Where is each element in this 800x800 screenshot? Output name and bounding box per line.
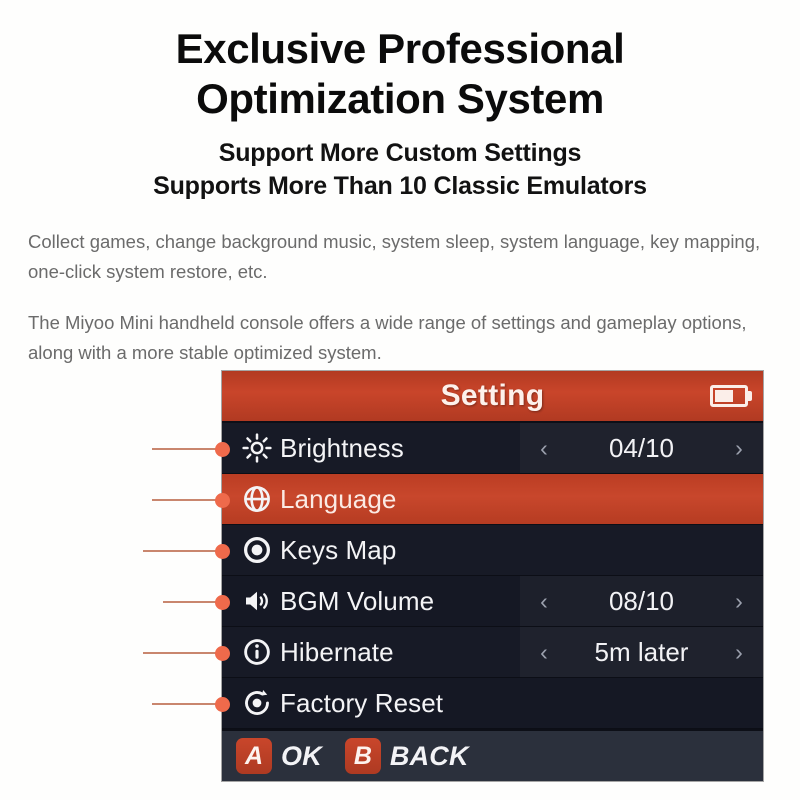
callout-line-6 — [152, 703, 222, 705]
settings-menu-list: Brightness‹04/10›LanguageKeys MapBGM Vol… — [222, 423, 763, 729]
settings-row-label: Language — [280, 484, 396, 515]
settings-row-value: 08/10 — [554, 586, 729, 617]
settings-row-label: Factory Reset — [280, 688, 443, 719]
screen-header-bar: Setting — [222, 371, 763, 423]
callout-line-5 — [143, 652, 222, 654]
subheadline-line-2: Supports More Than 10 Classic Emulators — [0, 170, 800, 203]
settings-row-language[interactable]: Language — [222, 474, 763, 525]
settings-row-label: Keys Map — [280, 535, 396, 566]
footer-key-b-badge[interactable]: B — [345, 738, 381, 774]
chevron-left-icon[interactable]: ‹ — [534, 590, 554, 613]
description-paragraph-2: The Miyoo Mini handheld console offers a… — [28, 308, 772, 368]
page-headline: Exclusive Professional Optimization Syst… — [0, 24, 800, 124]
subheadline-line-1: Support More Custom Settings — [0, 137, 800, 170]
settings-row-keys-map[interactable]: Keys Map — [222, 525, 763, 576]
headline-line-2: Optimization System — [0, 74, 800, 124]
settings-row-hibernate[interactable]: Hibernate‹5m later› — [222, 627, 763, 678]
settings-row-label: BGM Volume — [280, 586, 434, 617]
chevron-right-icon[interactable]: › — [729, 590, 749, 613]
info-circle-icon — [234, 637, 280, 667]
settings-row-factory-reset[interactable]: Factory Reset — [222, 678, 763, 729]
footer-action-back-label: BACK — [390, 741, 469, 772]
page-subheadline: Support More Custom Settings Supports Mo… — [0, 137, 800, 203]
battery-fill — [715, 390, 733, 402]
callout-line-1 — [152, 448, 222, 450]
screen-footer-bar: AOKBBACK — [222, 729, 763, 781]
footer-action-ok-label: OK — [281, 741, 322, 772]
device-settings-screen: Setting Brightness‹04/10›LanguageKeys Ma… — [222, 371, 763, 781]
globe-language-icon — [234, 484, 280, 514]
settings-row-brightness[interactable]: Brightness‹04/10› — [222, 423, 763, 474]
battery-icon — [710, 385, 748, 407]
speaker-volume-icon — [234, 586, 280, 616]
settings-row-bgm-volume[interactable]: BGM Volume‹08/10› — [222, 576, 763, 627]
callout-line-2 — [152, 499, 222, 501]
settings-row-label: Hibernate — [280, 637, 394, 668]
restore-arrow-icon — [234, 688, 280, 718]
description-paragraph-1: Collect games, change background music, … — [28, 227, 772, 287]
callout-line-3 — [143, 550, 222, 552]
headline-line-1: Exclusive Professional — [0, 24, 800, 74]
screen-title: Setting — [441, 379, 545, 413]
settings-row-stepper[interactable]: ‹08/10› — [520, 576, 763, 626]
footer-key-a-badge[interactable]: A — [236, 738, 272, 774]
settings-row-value: 04/10 — [554, 433, 729, 464]
keys-map-circle-icon — [234, 535, 280, 565]
settings-row-label: Brightness — [280, 433, 404, 464]
chevron-right-icon[interactable]: › — [729, 437, 749, 460]
chevron-left-icon[interactable]: ‹ — [534, 437, 554, 460]
brightness-sun-icon — [234, 433, 280, 463]
settings-row-stepper[interactable]: ‹04/10› — [520, 423, 763, 473]
chevron-left-icon[interactable]: ‹ — [534, 641, 554, 664]
chevron-right-icon[interactable]: › — [729, 641, 749, 664]
settings-row-value: 5m later — [554, 637, 729, 668]
callout-line-4 — [163, 601, 222, 603]
promo-copy-block: Exclusive Professional Optimization Syst… — [0, 0, 800, 368]
settings-row-stepper[interactable]: ‹5m later› — [520, 627, 763, 677]
